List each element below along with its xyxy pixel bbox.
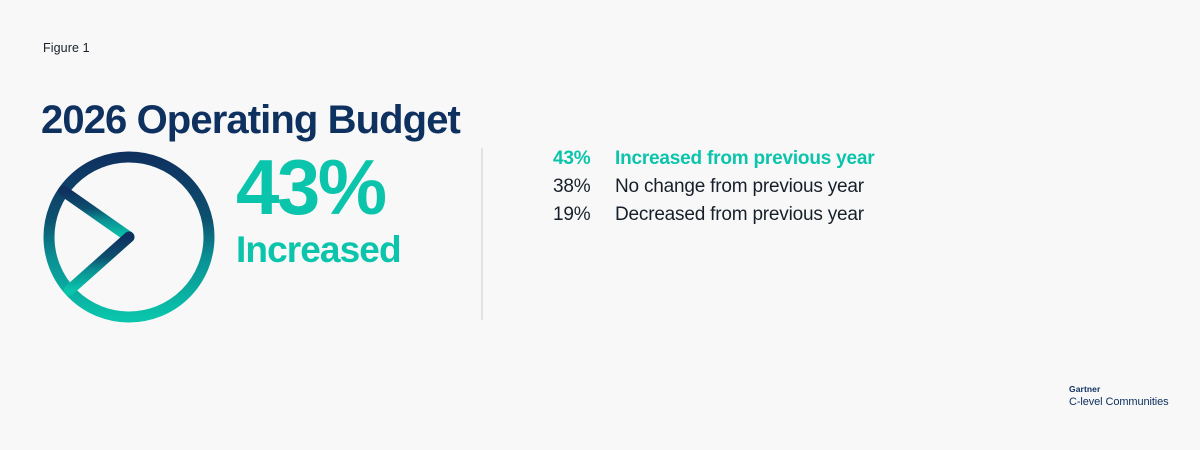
pie-chart-svg	[36, 145, 222, 331]
brand-subtitle: C-level Communities	[1069, 395, 1169, 409]
page-title: 2026 Operating Budget	[41, 95, 460, 145]
pie-divider-increased-start	[64, 191, 130, 237]
legend-percent: 19%	[553, 204, 615, 226]
brand-name: Gartner	[1069, 384, 1169, 395]
brand-logo: Gartner C-level Communities	[1069, 384, 1169, 409]
legend-row: 38% No change from previous year	[553, 176, 1113, 204]
headline-stat-label: Increased	[236, 228, 456, 272]
legend-label: No change from previous year	[615, 176, 864, 198]
legend-label: Decreased from previous year	[615, 204, 864, 226]
vertical-divider	[481, 148, 483, 320]
headline-stat: 43% Increased	[236, 150, 456, 272]
legend-row: 19% Decreased from previous year	[553, 204, 1113, 232]
legend-row: 43% Increased from previous year	[553, 148, 1113, 176]
pie-divider-nochange-end	[69, 237, 129, 290]
figure-canvas: Figure 1 2026 Operating Budget	[0, 0, 1200, 450]
headline-stat-value: 43%	[236, 150, 456, 224]
pie-chart	[36, 145, 222, 331]
legend-percent: 38%	[553, 176, 615, 198]
legend-percent: 43%	[553, 148, 615, 170]
figure-label: Figure 1	[43, 40, 90, 56]
legend-label: Increased from previous year	[615, 148, 874, 170]
legend: 43% Increased from previous year 38% No …	[553, 148, 1113, 232]
